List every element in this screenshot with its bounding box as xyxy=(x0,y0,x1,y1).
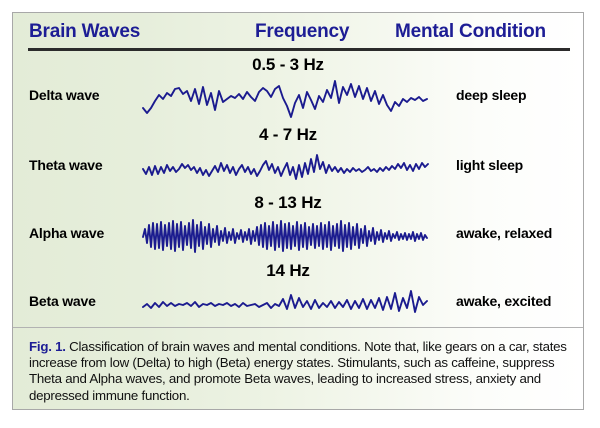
table-row: 4 - 7 Hz Theta wave light sleep xyxy=(13,123,583,191)
brain-waves-figure-card: Brain Waves Frequency Mental Condition 0… xyxy=(12,12,584,410)
table-row: 14 Hz Beta wave awake, excited xyxy=(13,259,583,327)
caption-figure-label: Fig. 1. xyxy=(29,339,66,354)
frequency-label-theta: 4 - 7 Hz xyxy=(133,125,443,145)
column-header-brain-waves: Brain Waves xyxy=(29,21,140,43)
frequency-label-beta: 14 Hz xyxy=(133,261,443,281)
caption-paragraph: Fig. 1. Classification of brain waves an… xyxy=(29,339,567,404)
caption-body: Classification of brain waves and mental… xyxy=(29,339,567,403)
table-row: 8 - 13 Hz Alpha wave awake, relaxed xyxy=(13,191,583,259)
wave-name-beta: Beta wave xyxy=(29,293,141,309)
waveform-theta xyxy=(141,145,451,191)
frequency-label-alpha: 8 - 13 Hz xyxy=(133,193,443,213)
wave-name-alpha: Alpha wave xyxy=(29,225,141,241)
mental-condition-delta: deep sleep xyxy=(456,87,526,103)
mental-condition-alpha: awake, relaxed xyxy=(456,225,552,241)
wave-name-delta: Delta wave xyxy=(29,87,141,103)
column-header-frequency: Frequency xyxy=(255,21,349,43)
wave-name-theta: Theta wave xyxy=(29,157,141,173)
mental-condition-beta: awake, excited xyxy=(456,293,551,309)
waveform-delta xyxy=(141,75,451,121)
mental-condition-theta: light sleep xyxy=(456,157,523,173)
header-divider xyxy=(28,48,570,51)
table-header: Brain Waves Frequency Mental Condition xyxy=(13,13,583,51)
table-row: 0.5 - 3 Hz Delta wave deep sleep xyxy=(13,53,583,121)
column-header-mental-condition: Mental Condition xyxy=(395,21,546,43)
frequency-label-delta: 0.5 - 3 Hz xyxy=(133,55,443,75)
waveform-beta xyxy=(141,281,451,327)
waveform-alpha xyxy=(141,213,451,259)
figure-caption: Fig. 1. Classification of brain waves an… xyxy=(13,328,583,404)
